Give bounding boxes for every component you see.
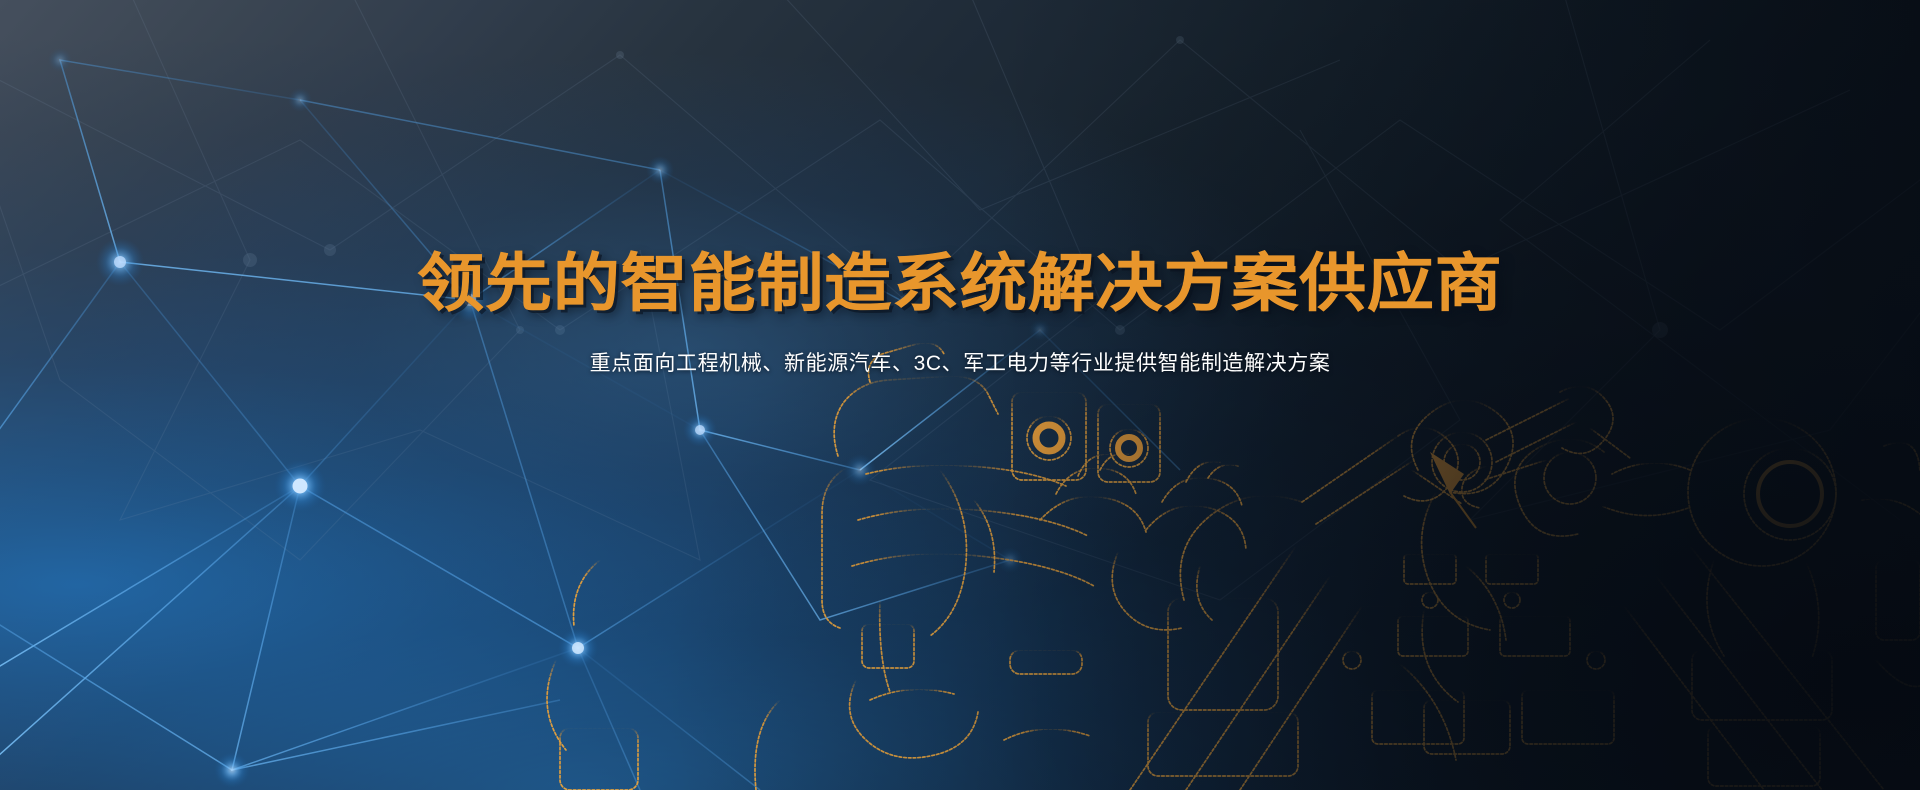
conveyor-line — [1130, 546, 1884, 790]
hero-copy-block: 领先的智能制造系统解决方案供应商 重点面向工程机械、新能源汽车、3C、军工电力等… — [0, 252, 1920, 379]
smart-factory-illustration — [0, 0, 1920, 790]
illustration-accents — [1036, 425, 1822, 528]
robot-arm-far-right — [1862, 442, 1920, 686]
hero-banner: 领先的智能制造系统解决方案供应商 重点面向工程机械、新能源汽车、3C、军工电力等… — [0, 0, 1920, 790]
robot-arm-right-b — [1462, 418, 1852, 788]
page-title: 领先的智能制造系统解决方案供应商 — [0, 252, 1920, 318]
welding-robot-arm-center — [1148, 427, 1462, 776]
humanoid-robot-left — [660, 343, 1160, 788]
robot-arm-right-a — [1400, 386, 1630, 760]
hero-subtitle: 重点面向工程机械、新能源汽车、3C、军工电力等行业提供智能制造解决方案 — [0, 348, 1920, 380]
